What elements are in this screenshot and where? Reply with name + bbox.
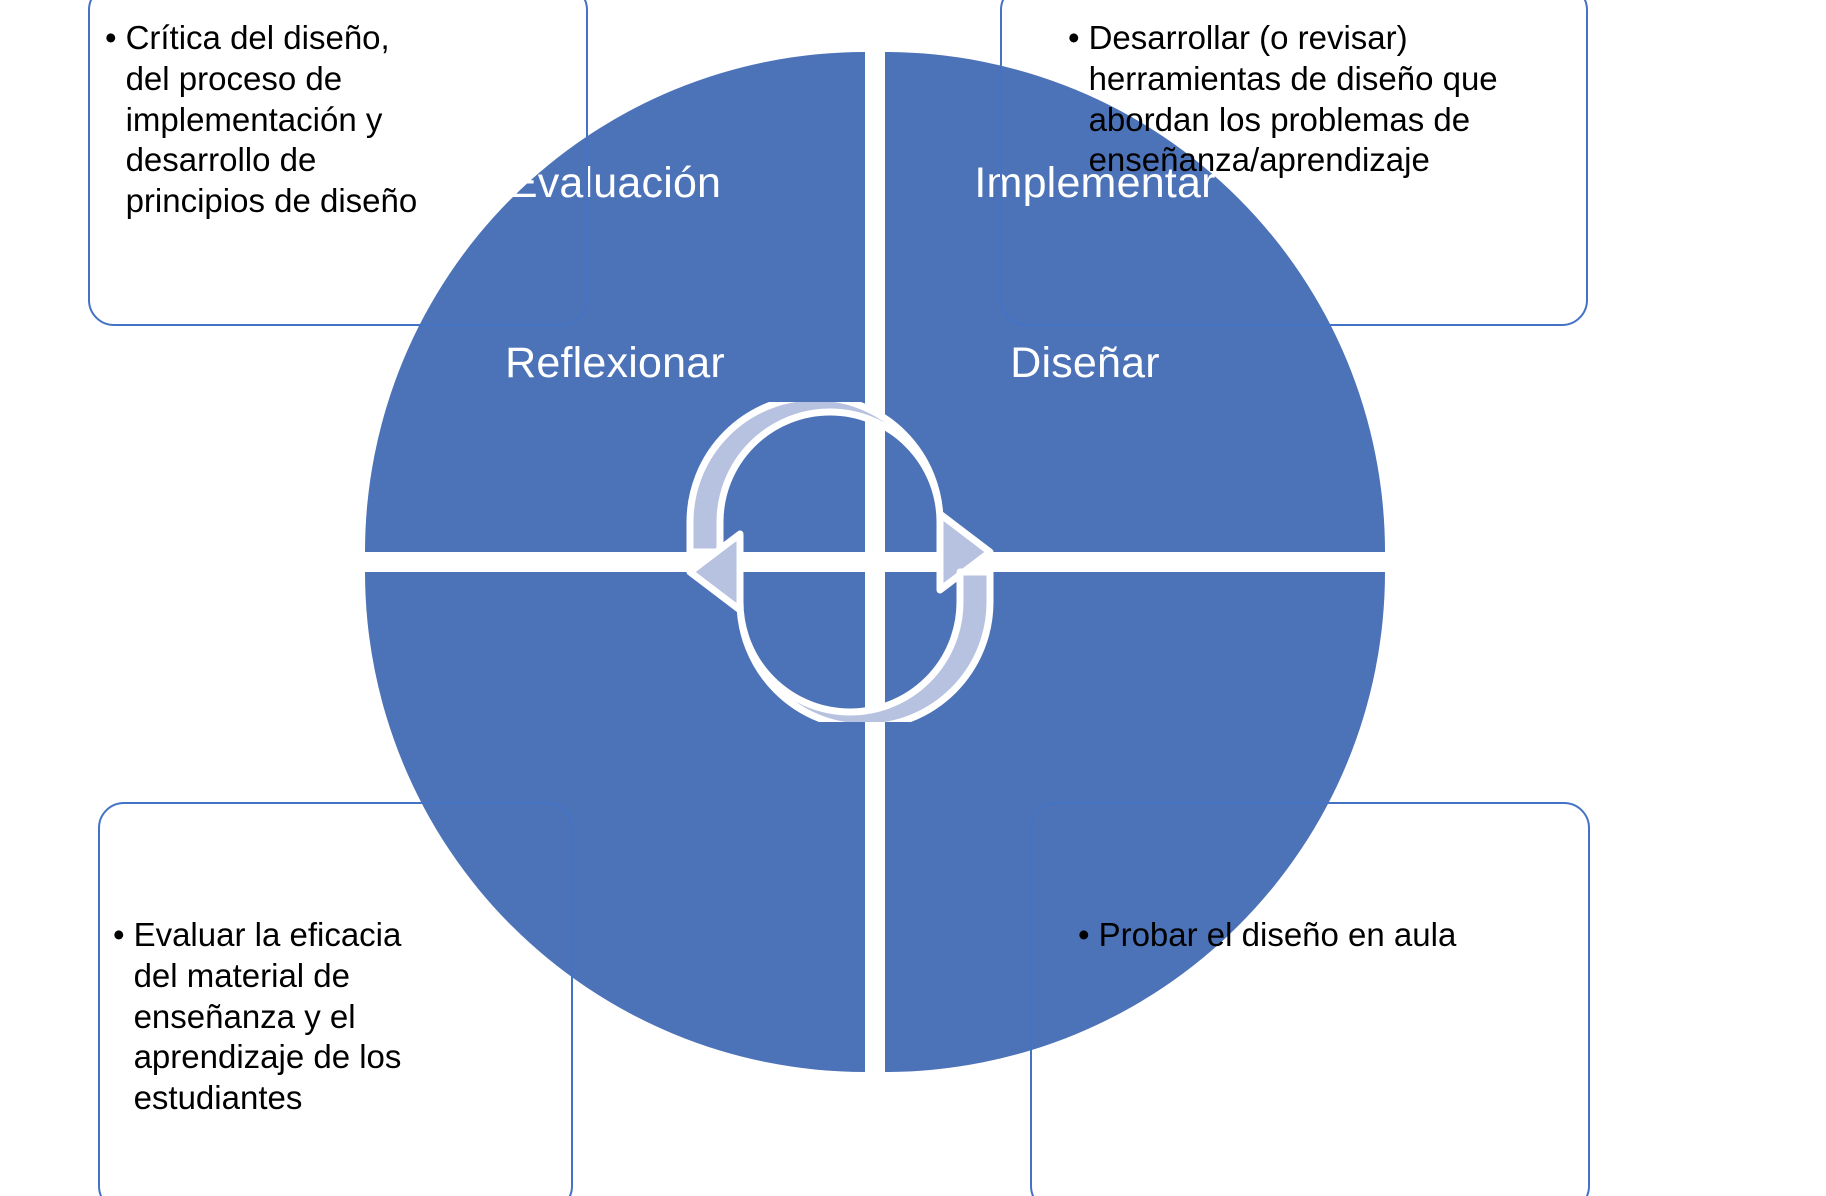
callout-body-evaluacion: Evaluar la eficacia del material de ense… xyxy=(134,915,443,1119)
callout-body-disenar: Desarrollar (o revisar) herramientas de … xyxy=(1089,18,1498,181)
diagram-canvas: Reflexionar Diseñar Evaluación Implement… xyxy=(0,0,1826,1196)
callout-body-implementar: Probar el diseño en aula xyxy=(1099,915,1478,956)
callout-text-reflexionar: • Crítica del diseño, del proceso de imp… xyxy=(105,18,435,222)
bullet-icon: • xyxy=(105,18,117,59)
quadrant-label-disenar: Diseñar xyxy=(885,342,1285,385)
callout-text-evaluacion: • Evaluar la eficacia del material de en… xyxy=(113,915,443,1119)
callout-box-implementar[interactable] xyxy=(1030,802,1590,1196)
bullet-icon: • xyxy=(1068,18,1080,59)
callout-text-implementar: • Probar el diseño en aula xyxy=(1078,915,1478,956)
bullet-icon: • xyxy=(113,915,125,956)
bullet-icon: • xyxy=(1078,915,1090,956)
callout-text-disenar: • Desarrollar (o revisar) herramientas d… xyxy=(1068,18,1498,181)
quadrant-label-reflexionar: Reflexionar xyxy=(365,342,865,385)
callout-body-reflexionar: Crítica del diseño, del proceso de imple… xyxy=(126,18,435,222)
